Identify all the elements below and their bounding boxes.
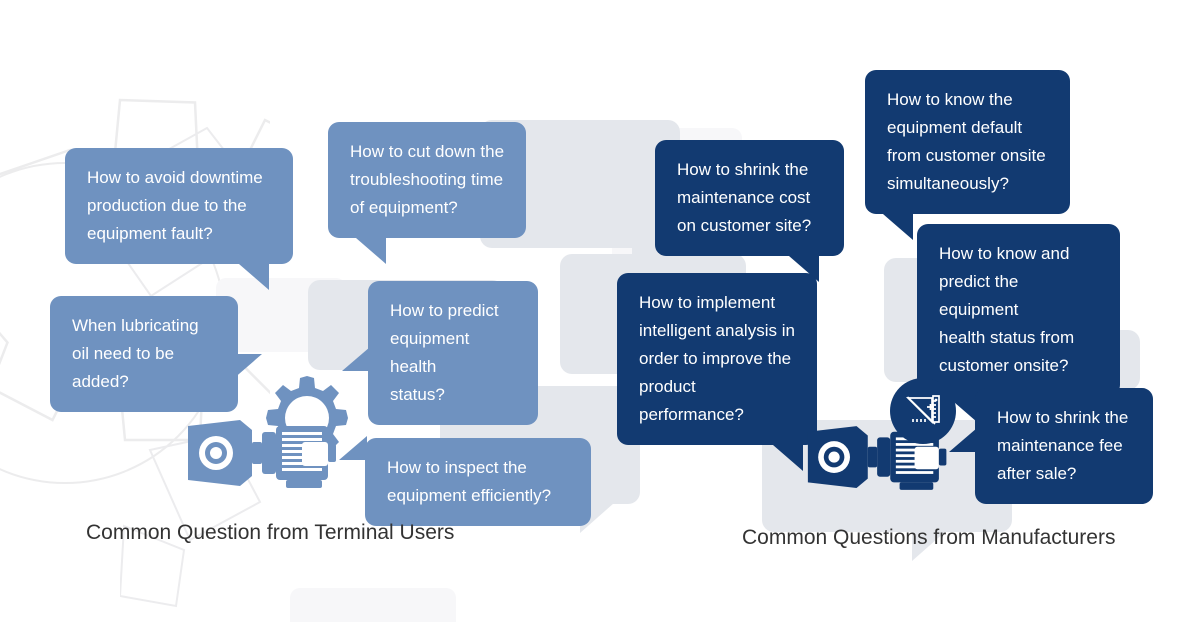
question-bubble-q5[interactable]: How to inspect the equipment efficiently… (365, 438, 591, 526)
question-bubble-m1[interactable]: How to shrink the maintenance cost on cu… (655, 140, 844, 256)
ghost-panel (290, 588, 456, 622)
bubble-tail (232, 354, 262, 380)
bubble-tail (883, 214, 913, 240)
question-bubble-q4[interactable]: How to predict equipment health status? (368, 281, 538, 425)
question-text: How to cut down the troubleshooting time… (350, 138, 506, 222)
diagram-canvas: How to avoid downtime production due to … (0, 0, 1200, 622)
question-bubble-m3[interactable]: How to implement intelligent analysis in… (617, 273, 817, 445)
question-bubble-m2[interactable]: How to know the equipment default from c… (865, 70, 1070, 214)
measuring-tools-badge (890, 378, 956, 444)
question-text: How to know and predict the equipment he… (939, 240, 1100, 380)
question-bubble-m5[interactable]: How to shrink the maintenance fee after … (975, 388, 1153, 504)
bubble-tail (949, 428, 977, 452)
question-text: How to avoid downtime production due to … (87, 164, 273, 248)
bubble-tail (342, 347, 370, 371)
question-bubble-q2[interactable]: How to cut down the troubleshooting time… (328, 122, 526, 238)
gearbox-motor-icon (186, 418, 342, 490)
caption-manufacturers: Common Questions from Manufacturers (742, 526, 1115, 550)
set-square-ruler-icon (903, 391, 943, 431)
question-text: How to shrink the maintenance cost on cu… (677, 156, 824, 240)
question-text: How to shrink the maintenance fee after … (997, 404, 1133, 488)
question-bubble-m4[interactable]: How to know and predict the equipment he… (917, 224, 1120, 396)
question-bubble-q1[interactable]: How to avoid downtime production due to … (65, 148, 293, 264)
question-text: How to implement intelligent analysis in… (639, 289, 797, 429)
question-text: When lubricating oil need to be added? (72, 312, 218, 396)
bubble-tail (356, 238, 386, 264)
caption-terminal-users: Common Question from Terminal Users (86, 521, 454, 545)
question-bubble-q3[interactable]: When lubricating oil need to be added? (50, 296, 238, 412)
bubble-tail (773, 445, 803, 471)
bubble-tail (239, 264, 269, 290)
question-text: How to inspect the equipment efficiently… (387, 454, 571, 510)
question-text: How to predict equipment health status? (390, 297, 518, 409)
question-text: How to know the equipment default from c… (887, 86, 1050, 198)
